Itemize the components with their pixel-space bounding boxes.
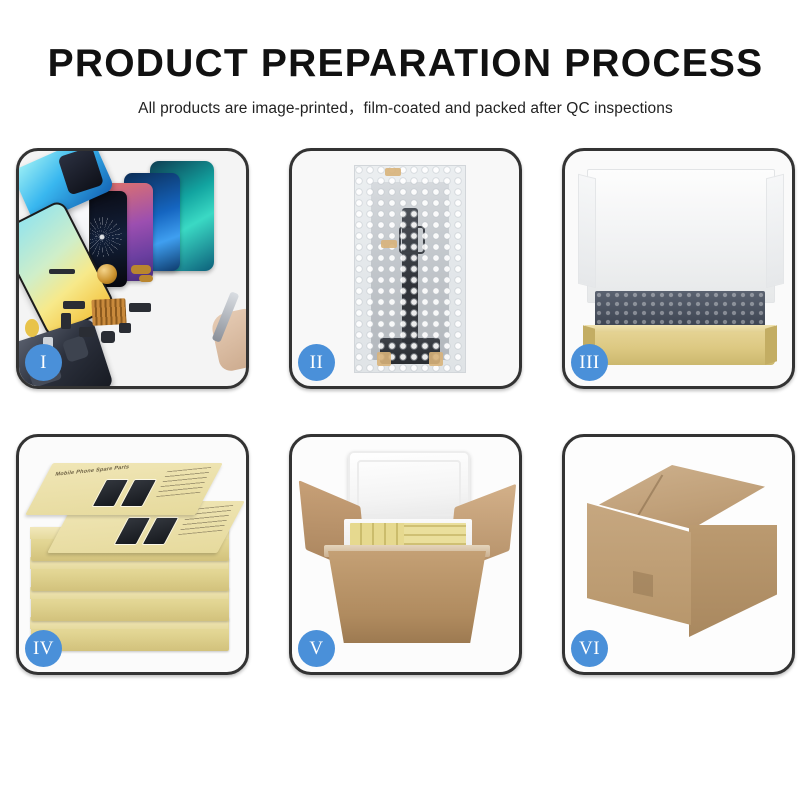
step-panel-i: I xyxy=(16,148,249,389)
box-spec-lines-top xyxy=(156,467,211,497)
stacked-box-3 xyxy=(31,557,229,591)
stacked-box-4 xyxy=(31,587,229,621)
step-badge-i: I xyxy=(25,344,62,381)
step-panel-iv: Mobile Phone Spare Parts Mobile Phone Sp… xyxy=(16,434,249,675)
small-part-6 xyxy=(129,303,151,312)
dark-foam-insert xyxy=(595,291,765,329)
box-stack: Mobile Phone Spare Parts Mobile Phone Sp… xyxy=(27,457,243,657)
step-badge-iii: III xyxy=(571,344,608,381)
step-panel-v: V xyxy=(289,434,522,675)
flex-cable-part-1 xyxy=(49,269,75,274)
bag-tape-bottom-left xyxy=(377,352,391,366)
step-panel-ii: II xyxy=(289,148,522,389)
flex-cable-part-2 xyxy=(131,265,151,274)
vibration-motor-part xyxy=(97,264,117,284)
small-part-2 xyxy=(61,313,71,329)
step-badge-ii: II xyxy=(298,344,335,381)
carton-tape-upper xyxy=(633,571,653,597)
bubble-wrap-bag xyxy=(354,165,466,373)
sealed-carton xyxy=(587,465,777,641)
small-part-8 xyxy=(25,319,39,337)
small-part-3 xyxy=(79,327,95,337)
box-label-top: Mobile Phone Spare Parts xyxy=(54,464,130,477)
small-part-1 xyxy=(63,301,85,309)
small-part-4 xyxy=(101,331,115,343)
carton-side-face xyxy=(689,525,777,637)
bag-tape-top xyxy=(385,168,401,176)
carton-seam xyxy=(633,474,664,523)
stacked-box-lid-top: Mobile Phone Spare Parts xyxy=(25,463,223,515)
flex-cable-part-3 xyxy=(139,275,153,282)
step-panel-vi: VI xyxy=(562,434,795,675)
step-badge-iv: IV xyxy=(25,630,62,667)
header: PRODUCT PREPARATION PROCESS All products… xyxy=(0,0,811,118)
bag-tape-bottom-right xyxy=(429,352,443,366)
kraft-box-base xyxy=(585,325,775,365)
step-panel-iii: III xyxy=(562,148,795,389)
screen-module xyxy=(58,148,105,196)
logic-board-chip xyxy=(91,298,126,326)
step-badge-vi: VI xyxy=(571,630,608,667)
foam-lid-open xyxy=(348,451,470,525)
box-flap-right xyxy=(765,325,777,364)
step-badge-v: V xyxy=(298,630,335,667)
small-part-5 xyxy=(119,323,131,333)
bag-tape-mid xyxy=(381,240,397,248)
page-subtitle: All products are image-printed，film-coat… xyxy=(0,96,811,118)
bubble-texture xyxy=(355,166,465,372)
carton-body xyxy=(328,551,486,643)
carton-tape-lower xyxy=(635,635,653,659)
product-preparation-infographic: PRODUCT PREPARATION PROCESS All products… xyxy=(0,0,811,811)
page-title: PRODUCT PREPARATION PROCESS xyxy=(0,44,811,85)
process-step-grid: I II xyxy=(16,148,795,675)
white-box-lid xyxy=(587,169,775,303)
